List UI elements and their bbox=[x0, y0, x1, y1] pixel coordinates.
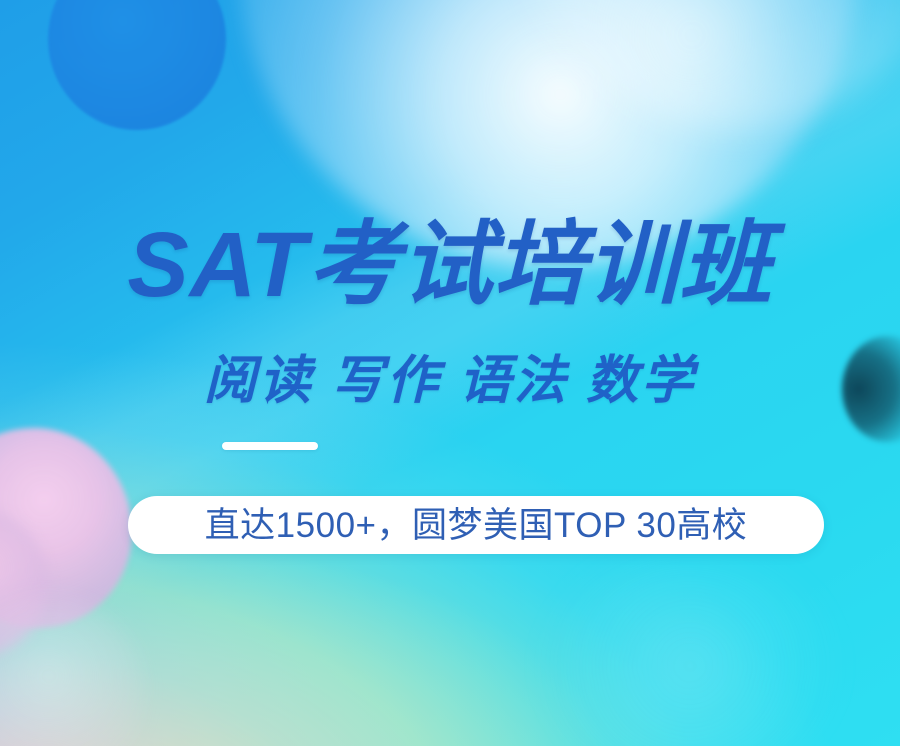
title-divider bbox=[222, 442, 318, 450]
tagline-badge: 直达1500+，圆梦美国TOP 30高校 bbox=[128, 496, 824, 554]
banner-content: SAT考试培训班 阅读 写作 语法 数学 直达1500+，圆梦美国TOP 30高… bbox=[0, 0, 900, 746]
tagline-badge-label: 直达1500+，圆梦美国TOP 30高校 bbox=[205, 508, 748, 543]
promo-banner: SAT考试培训班 阅读 写作 语法 数学 直达1500+，圆梦美国TOP 30高… bbox=[0, 0, 900, 746]
page-title: SAT考试培训班 bbox=[0, 219, 900, 311]
subtitle: 阅读 写作 语法 数学 bbox=[0, 355, 900, 407]
